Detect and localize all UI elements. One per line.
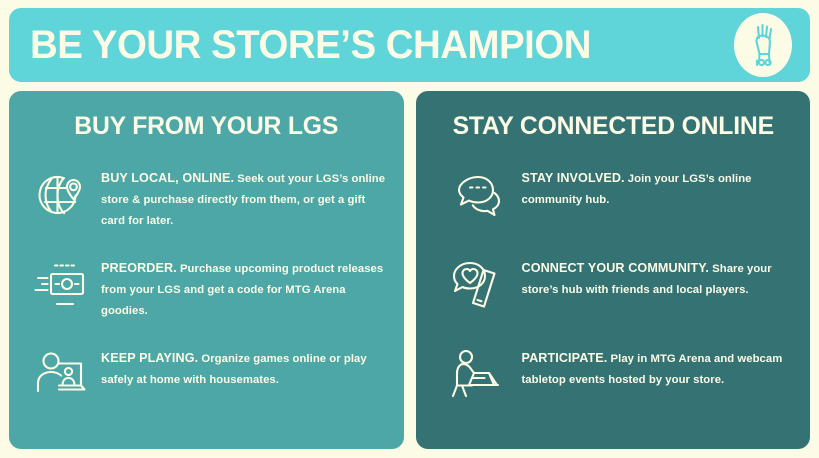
person-at-monitor-icon [25,345,101,403]
panel-right-items: STAY INVOLVED. Join your LGS’s online co… [432,165,795,440]
list-item-text: PARTICIPATE. Play in MTG Arena and webca… [522,345,795,391]
panel-left-items: BUY LOCAL, ONLINE. Seek out your LGS’s o… [25,165,388,440]
speech-bubbles-icon [432,165,522,223]
person-laptop-desk-icon [432,345,522,405]
list-item: CONNECT YOUR COMMUNITY. Share your store… [432,255,795,339]
list-item-lead: CONNECT YOUR COMMUNITY. [522,261,709,275]
list-item-text: STAY INVOLVED. Join your LGS’s online co… [522,165,795,211]
list-item-text: BUY LOCAL, ONLINE. Seek out your LGS’s o… [101,165,388,232]
heart-bubble-phone-icon [432,255,522,315]
list-item: STAY INVOLVED. Join your LGS’s online co… [432,165,795,249]
panel-buy-from-your-lgs: BUY FROM YOUR LGS [9,91,404,449]
list-item: BUY LOCAL, ONLINE. Seek out your LGS’s o… [25,165,388,249]
page-title: BE YOUR STORE’S CHAMPION [30,25,591,65]
banknote-fast-icon [25,255,101,313]
header-badge [734,13,792,77]
list-item: PREORDER. Purchase upcoming product rele… [25,255,388,339]
panel-stay-connected-online: STAY CONNECTED ONLINE [416,91,811,449]
list-item-lead: PARTICIPATE. [522,351,608,365]
infographic-page: BE YOUR STORE’S CHAMPION [0,0,819,458]
header-banner: BE YOUR STORE’S CHAMPION [9,8,810,82]
globe-location-pin-icon [25,165,101,223]
list-item-text: KEEP PLAYING. Organize games online or p… [101,345,388,391]
list-item-text: CONNECT YOUR COMMUNITY. Share your store… [522,255,795,301]
raised-hand-icon [748,22,778,68]
list-item-lead: PREORDER. [101,261,177,275]
panel-heading-right: STAY CONNECTED ONLINE [433,113,792,141]
list-item: PARTICIPATE. Play in MTG Arena and webca… [432,345,795,429]
list-item-lead: BUY LOCAL, ONLINE. [101,171,234,185]
list-item-text: PREORDER. Purchase upcoming product rele… [101,255,388,322]
list-item-lead: STAY INVOLVED. [522,171,625,185]
panel-heading-left: BUY FROM YOUR LGS [27,113,386,141]
list-item-lead: KEEP PLAYING. [101,351,198,365]
list-item: KEEP PLAYING. Organize games online or p… [25,345,388,429]
panels-container: BUY FROM YOUR LGS [9,91,810,449]
